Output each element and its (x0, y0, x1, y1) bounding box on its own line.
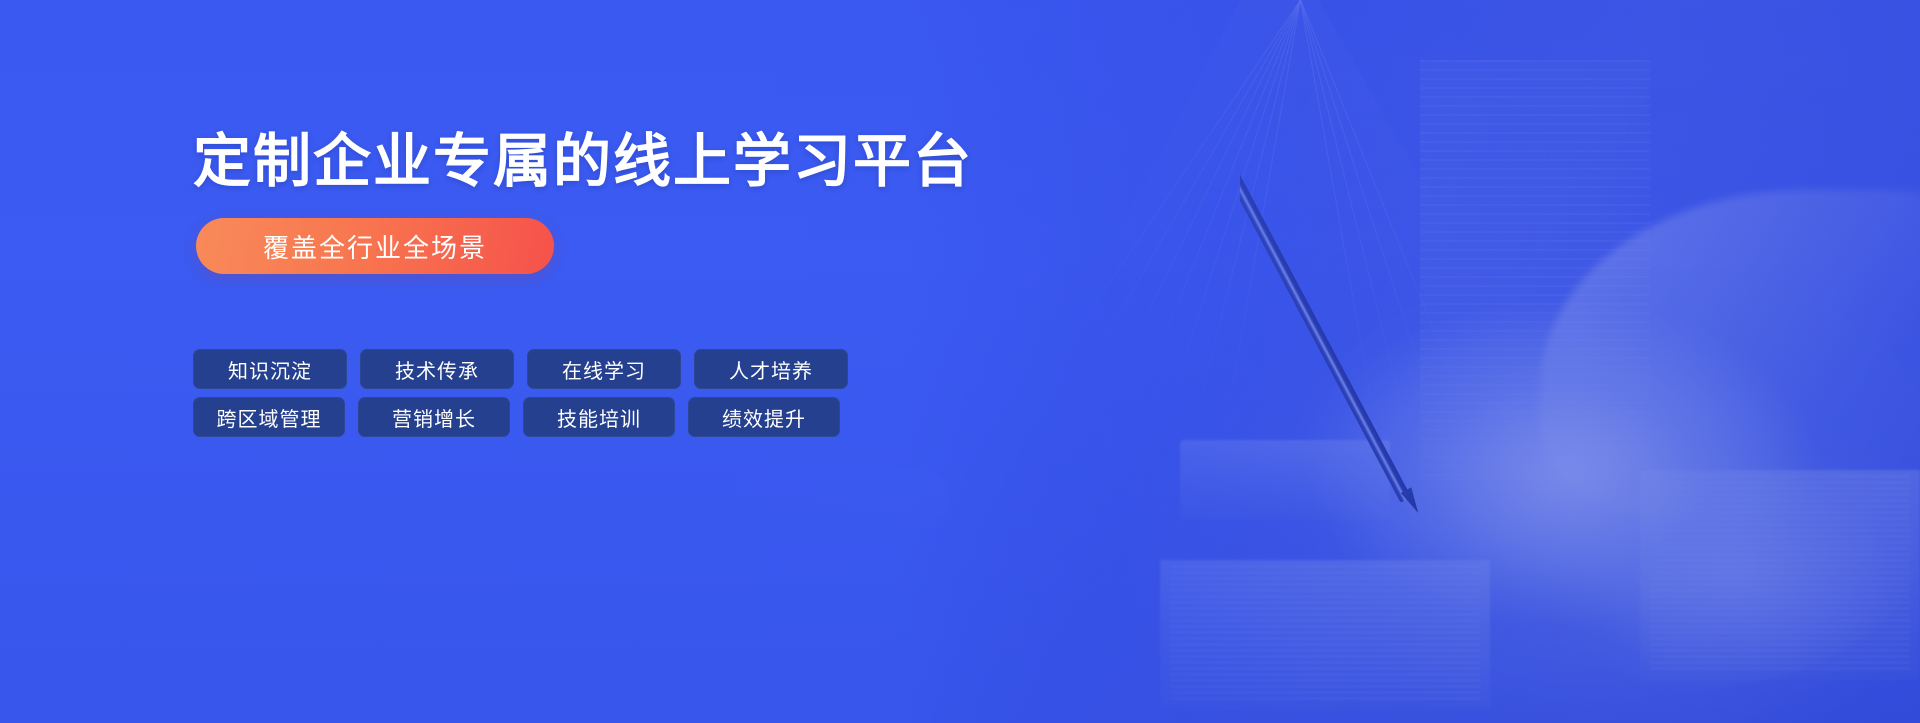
feature-tag-row-1: 知识沉淀 技术传承 在线学习 人才培养 (193, 349, 893, 389)
feature-tag-technology-inheritance[interactable]: 技术传承 (360, 349, 514, 389)
feature-tag-marketing-growth[interactable]: 营销增长 (358, 397, 510, 437)
feature-tag-label: 技能培训 (557, 403, 641, 432)
feature-tag-label: 在线学习 (562, 355, 646, 384)
feature-tag-label: 跨区域管理 (217, 403, 322, 432)
feature-tag-knowledge-precipitation[interactable]: 知识沉淀 (193, 349, 347, 389)
feature-tag-skills-training[interactable]: 技能培训 (523, 397, 675, 437)
hero-content: 定制企业专属的线上学习平台 覆盖全行业全场景 知识沉淀 技术传承 在线学习 人才… (193, 0, 1093, 723)
coverage-badge-label: 覆盖全行业全场景 (263, 228, 487, 265)
feature-tag-label: 营销增长 (392, 403, 476, 432)
coverage-badge[interactable]: 覆盖全行业全场景 (196, 218, 554, 274)
feature-tag-list: 知识沉淀 技术传承 在线学习 人才培养 跨区域管理 营销增长 (193, 349, 893, 445)
feature-tag-label: 知识沉淀 (228, 355, 312, 384)
feature-tag-label: 人才培养 (729, 355, 813, 384)
feature-tag-performance-improvement[interactable]: 绩效提升 (688, 397, 840, 437)
feature-tag-online-learning[interactable]: 在线学习 (527, 349, 681, 389)
feature-tag-label: 技术传承 (395, 355, 479, 384)
hero-banner: 定制企业专属的线上学习平台 覆盖全行业全场景 知识沉淀 技术传承 在线学习 人才… (0, 0, 1920, 723)
feature-tag-talent-development[interactable]: 人才培养 (694, 349, 848, 389)
page-title: 定制企业专属的线上学习平台 (193, 133, 973, 191)
feature-tag-label: 绩效提升 (722, 403, 806, 432)
feature-tag-row-2: 跨区域管理 营销增长 技能培训 绩效提升 (193, 397, 893, 437)
feature-tag-cross-region-management[interactable]: 跨区域管理 (193, 397, 345, 437)
